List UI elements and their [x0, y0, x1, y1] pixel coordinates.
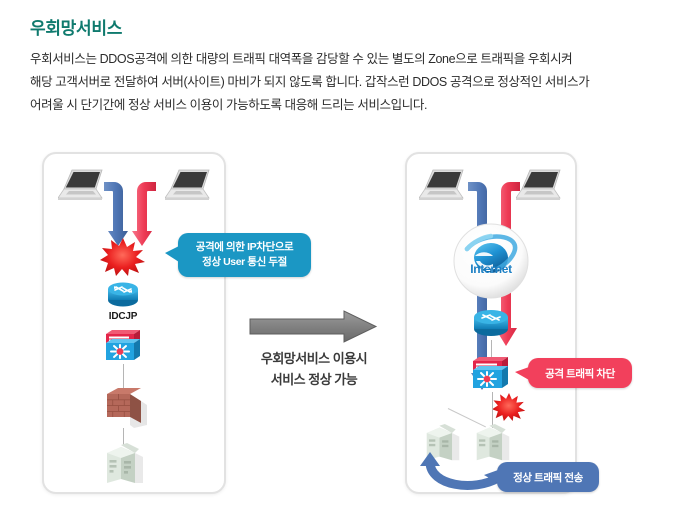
callout-normal-traffic: 정상 트래픽 전송 [497, 462, 599, 492]
transition-caption-line-2: 서비스 정상 가능 [238, 369, 390, 390]
intro-paragraph: 우회서비스는 DDOS공격에 의한 대량의 트래픽 대역폭을 감당할 수 있는 … [30, 48, 650, 117]
callout-attack-block: 공격에 의한 IP차단으로 정상 User 통신 두절 [178, 233, 311, 277]
diagram-page: 우회망서비스 우회서비스는 DDOS공격에 의한 대량의 트래픽 대역폭을 감당… [0, 0, 680, 525]
transition-caption-line-1: 우회망서비스 이용시 [238, 348, 390, 369]
page-title: 우회망서비스 [30, 14, 122, 39]
right-laptop-icon [419, 168, 471, 211]
callout-traffic-block: 공격 트래픽 차단 [528, 358, 632, 388]
left-explosion-icon [100, 237, 146, 282]
left-firewall-brick-icon [104, 387, 148, 434]
left-router-icon [105, 281, 141, 314]
left-router-label: IDCJP [95, 311, 151, 322]
left-link-switch-firewall [123, 364, 124, 388]
callout-traffic-block-line-1: 공격 트래픽 차단 [545, 366, 615, 381]
intro-line-2: 해당 고객서버로 전달하여 서버(사이트) 마비가 되지 않도록 합니다. 갑작… [30, 71, 650, 94]
right-link-switch-server-right [492, 392, 493, 428]
transition-caption: 우회망서비스 이용시 서비스 정상 가능 [238, 348, 390, 390]
callout-attack-block-tail [165, 246, 179, 262]
left-laptop-2-icon [165, 168, 217, 211]
callout-attack-block-line-1: 공격에 의한 IP차단으로 [196, 240, 294, 255]
intro-line-3: 어려울 시 단기간에 정상 서비스 이용이 가능하도록 대응해 드리는 서비스입… [30, 94, 650, 117]
internet-badge-label: Internet [455, 262, 527, 276]
intro-line-1: 우회서비스는 DDOS공격에 의한 대량의 트래픽 대역폭을 감당할 수 있는 … [30, 48, 650, 71]
callout-traffic-block-tail [515, 367, 529, 380]
callout-normal-traffic-tail [484, 470, 498, 483]
callout-normal-traffic-line-1: 정상 트래픽 전송 [513, 470, 583, 485]
transition-arrow-icon [248, 310, 378, 344]
left-switch-icon [104, 328, 142, 369]
callout-attack-block-line-2: 정상 User 통신 두절 [202, 255, 287, 270]
left-server-icon [103, 443, 147, 490]
right-laptop-2-icon [516, 168, 568, 211]
right-explosion-icon [492, 392, 526, 427]
